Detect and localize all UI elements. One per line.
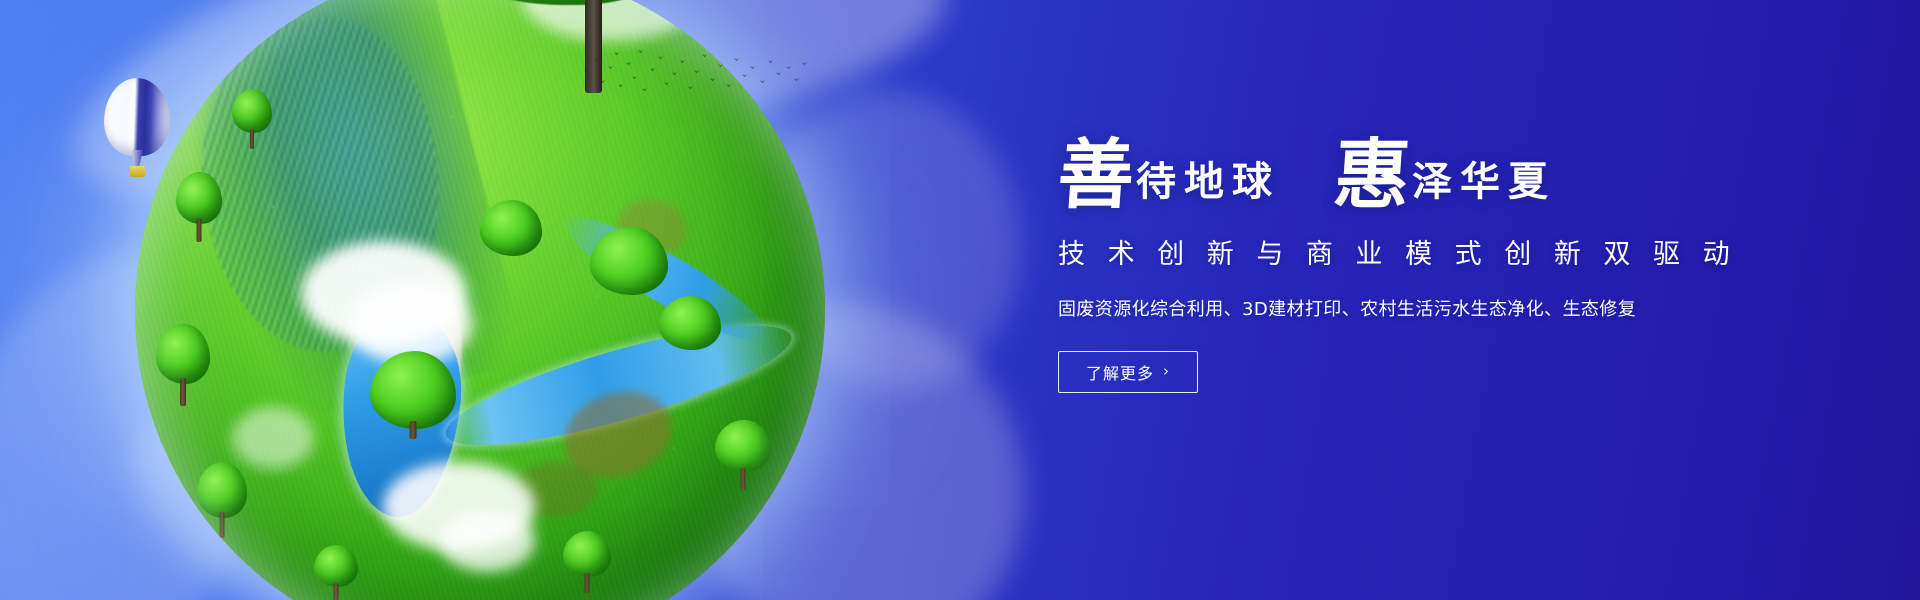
learn-more-label: 了解更多 (1086, 360, 1154, 384)
hero-tree-canopy (435, 0, 685, 5)
learn-more-button[interactable]: 了解更多 › (1058, 351, 1198, 393)
tree (659, 296, 721, 354)
headline: 善 待地球 惠 泽华夏 (1058, 140, 1818, 210)
tree (370, 351, 456, 437)
tree (232, 89, 272, 149)
chevron-right-icon: › (1163, 364, 1170, 379)
tree (197, 462, 247, 538)
subtitle: 技 术 创 新 与 商 业 模 式 创 新 双 驱 动 (1058, 232, 1818, 271)
tree (314, 545, 358, 600)
cloud-puff (439, 510, 536, 572)
banner-content: 善 待地球 惠 泽华夏 技 术 创 新 与 商 业 模 式 创 新 双 驱 动 … (1058, 140, 1818, 393)
tree (563, 531, 611, 593)
tree (590, 227, 668, 299)
bird-flock (580, 40, 810, 106)
headline-brush-char-2: 惠 (1332, 140, 1413, 210)
hero-banner: 善 待地球 惠 泽华夏 技 术 创 新 与 商 业 模 式 创 新 双 驱 动 … (0, 0, 1920, 600)
headline-brush-char-1: 善 (1056, 140, 1137, 210)
tree (715, 420, 771, 490)
cloud-puff (232, 407, 315, 469)
tree (156, 324, 210, 406)
balloon-envelope (104, 78, 170, 156)
hot-air-balloon (104, 78, 170, 182)
headline-regular-1: 待地球 (1136, 162, 1280, 210)
tree (480, 200, 542, 260)
balloon-neck (131, 150, 143, 166)
description: 固废资源化综合利用、3D建材打印、农村生活污水生态净化、生态修复 (1058, 295, 1818, 321)
balloon-basket (130, 166, 145, 177)
headline-regular-2: 泽华夏 (1412, 162, 1556, 210)
tree (176, 172, 222, 242)
